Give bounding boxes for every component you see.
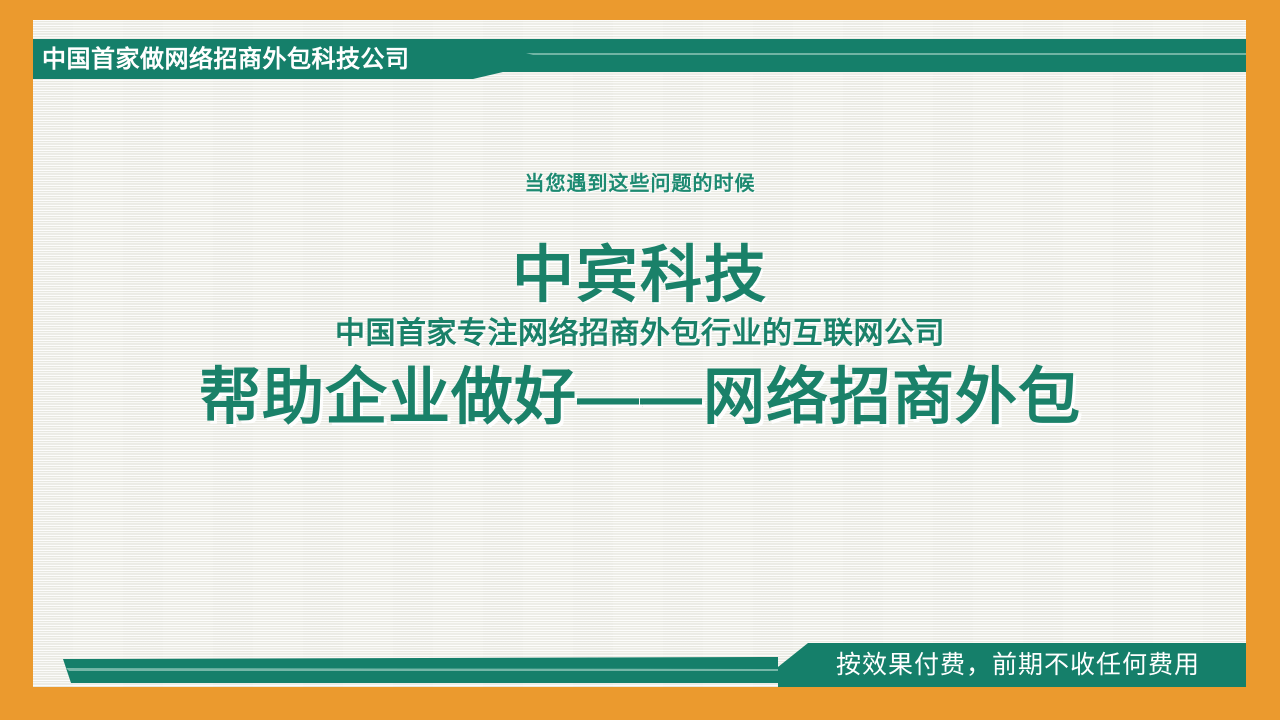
slide-canvas (33, 20, 1246, 687)
footer-text: 按效果付费，前期不收任何费用 (836, 650, 1236, 680)
header-title: 中国首家做网络招商外包科技公司 (42, 44, 492, 76)
slide-root: 中国首家做网络招商外包科技公司 当您遇到这些问题的时候 中宾科技 中国首家专注网… (0, 0, 1280, 720)
eyebrow-text: 当您遇到这些问题的时候 (0, 167, 1280, 196)
brand-name: 中宾科技 (0, 245, 1280, 307)
tagline-text: 中国首家专注网络招商外包行业的互联网公司 (0, 319, 1280, 349)
headline-text: 帮助企业做好——网络招商外包 (0, 365, 1280, 430)
